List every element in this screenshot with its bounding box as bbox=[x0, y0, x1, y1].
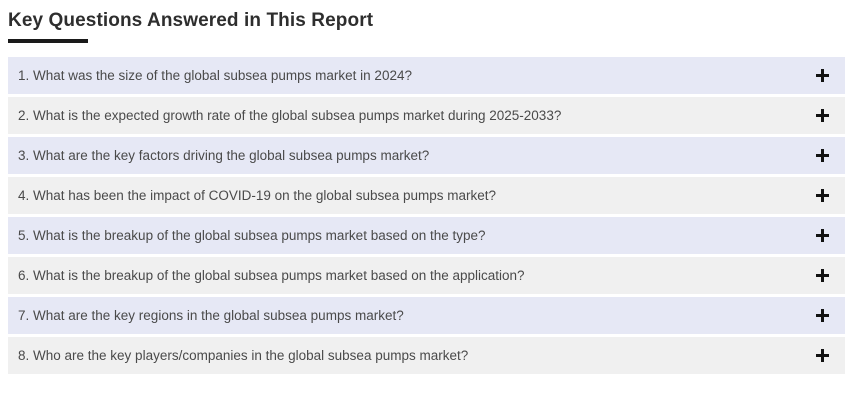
faq-question-text: 7. What are the key regions in the globa… bbox=[18, 307, 816, 325]
plus-icon[interactable] bbox=[816, 269, 830, 283]
faq-question-text: 1. What was the size of the global subse… bbox=[18, 67, 816, 85]
plus-icon[interactable] bbox=[816, 109, 830, 123]
plus-icon[interactable] bbox=[816, 349, 830, 363]
faq-item-8[interactable]: 8. Who are the key players/companies in … bbox=[8, 337, 845, 374]
page-title: Key Questions Answered in This Report bbox=[8, 9, 373, 33]
faq-question-text: 2. What is the expected growth rate of t… bbox=[18, 107, 816, 125]
faq-question-text: 6. What is the breakup of the global sub… bbox=[18, 267, 816, 285]
plus-icon[interactable] bbox=[816, 189, 830, 203]
faq-item-1[interactable]: 1. What was the size of the global subse… bbox=[8, 57, 845, 94]
plus-icon[interactable] bbox=[816, 149, 830, 163]
plus-icon[interactable] bbox=[816, 69, 830, 83]
faq-question-text: 5. What is the breakup of the global sub… bbox=[18, 227, 816, 245]
faq-question-text: 3. What are the key factors driving the … bbox=[18, 147, 816, 165]
faq-item-7[interactable]: 7. What are the key regions in the globa… bbox=[8, 297, 845, 334]
faq-item-4[interactable]: 4. What has been the impact of COVID-19 … bbox=[8, 177, 845, 214]
plus-icon[interactable] bbox=[816, 229, 830, 243]
faq-item-5[interactable]: 5. What is the breakup of the global sub… bbox=[8, 217, 845, 254]
faq-question-text: 8. Who are the key players/companies in … bbox=[18, 347, 816, 365]
faq-item-6[interactable]: 6. What is the breakup of the global sub… bbox=[8, 257, 845, 294]
plus-icon[interactable] bbox=[816, 309, 830, 323]
faq-accordion-list: 1. What was the size of the global subse… bbox=[8, 57, 845, 377]
faq-question-text: 4. What has been the impact of COVID-19 … bbox=[18, 187, 816, 205]
title-underline-rule bbox=[8, 39, 88, 43]
faq-item-3[interactable]: 3. What are the key factors driving the … bbox=[8, 137, 845, 174]
key-questions-section: Key Questions Answered in This Report 1.… bbox=[0, 0, 852, 400]
faq-item-2[interactable]: 2. What is the expected growth rate of t… bbox=[8, 97, 845, 134]
